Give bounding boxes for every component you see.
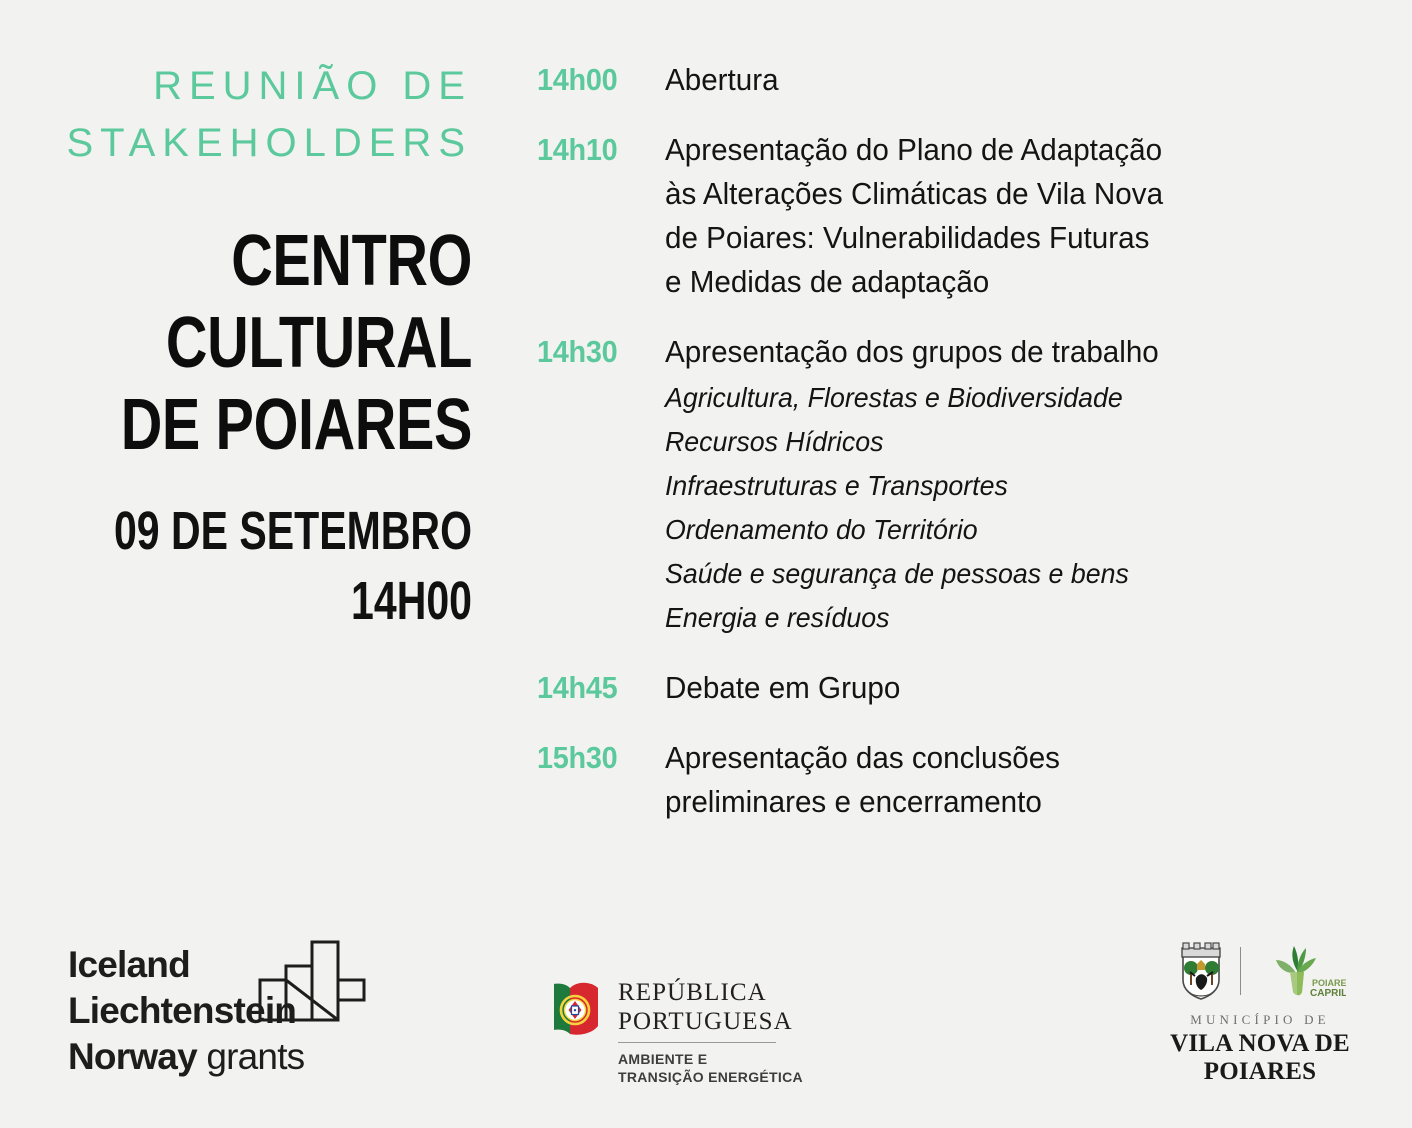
rp-subtitle-line-1: AMBIENTE E [618,1050,803,1068]
rp-line-republica: REPÚBLICA [618,978,803,1007]
agenda-item-title: Apresentação dos grupos de trabalho [665,330,1307,374]
rp-subtitle-line-2: TRANSIÇÃO ENERGÉTICA [618,1068,803,1086]
working-group-item: Infraestruturas e Transportes [665,464,1307,508]
working-group-item: Ordenamento do Território [665,508,1307,552]
working-group-item: Saúde e segurança de pessoas e bens [665,552,1307,596]
republica-portuguesa-logo: REPÚBLICA PORTUGUESA AMBIENTE E TRANSIÇÃ… [548,976,803,1086]
event-date: 09 DE SETEMBRO [113,496,472,566]
logo-divider [1240,947,1241,995]
municipio-marks-row: POIARES CAPRILAND [1155,938,1365,1004]
agenda-item-time: 14h10 [537,128,656,172]
agenda-item: 14h30 Apresentação dos grupos de trabalh… [537,330,1337,640]
agenda-title-line: de Poiares: Vulnerabilidades Futuras [665,216,1307,260]
working-group-item: Agricultura, Florestas e Biodiversidade [665,376,1307,420]
agenda-item-title: Apresentação das conclusões preliminares… [665,736,1307,824]
eea-grants-word: grants [206,1036,304,1077]
rp-line-portuguesa: PORTUGUESA [618,1007,803,1036]
agenda-item-time: 14h00 [537,58,656,102]
venue-line-3: DE POIARES [94,384,472,466]
svg-text:CAPRILAND: CAPRILAND [1310,988,1346,999]
municipio-vila-nova-de-poiares-logo: POIARES CAPRILAND MUNICÍPIO DE VILA NOVA… [1155,938,1365,1086]
agenda-item-title: Apresentação do Plano de Adaptação às Al… [665,128,1307,304]
venue-line-1: CENTRO [94,220,472,302]
agenda-item-time: 15h30 [537,736,656,780]
agenda-title-line: Apresentação do Plano de Adaptação [665,128,1307,172]
working-group-item: Recursos Hídricos [665,420,1307,464]
republica-portuguesa-wordmark: REPÚBLICA PORTUGUESA AMBIENTE E TRANSIÇÃ… [618,976,803,1086]
coat-of-arms-icon [1175,940,1227,1002]
working-group-item: Energia e resíduos [665,596,1307,640]
venue-title: CENTRO CULTURAL DE POIARES [94,220,472,466]
agenda-title-line: preliminares e encerramento [665,780,1307,824]
agenda-list: 14h00 Abertura 14h10 Apresentação do Pla… [537,58,1337,824]
event-time: 14H00 [113,566,472,636]
agenda-item-body: Apresentação dos grupos de trabalho Agri… [665,330,1307,640]
agenda-item-body: Abertura [665,58,1307,102]
kicker-line-1: REUNIÃO DE [0,58,472,115]
agenda-item: 14h10 Apresentação do Plano de Adaptação… [537,128,1337,304]
svg-text:POIARES: POIARES [1312,978,1346,988]
agenda-title-line: Debate em Grupo [665,666,1307,710]
working-groups-list: Agricultura, Florestas e Biodiversidade … [665,376,1307,640]
agenda-item-time: 14h45 [537,666,656,710]
agenda-item-body: Apresentação do Plano de Adaptação às Al… [665,128,1307,304]
venue-line-2: CULTURAL [94,302,472,384]
agenda-item: 14h00 Abertura [537,58,1337,102]
footer-logos: Iceland Liechtenstein Norway grants REPÚ… [0,888,1412,1128]
event-identity-column: REUNIÃO DE STAKEHOLDERS CENTRO CULTURAL … [0,0,472,636]
eea-grants-blocks-icon [258,940,368,1022]
event-datetime: 09 DE SETEMBRO 14H00 [113,496,472,636]
agenda-item: 15h30 Apresentação das conclusões prelim… [537,736,1337,824]
agenda-item: 14h45 Debate em Grupo [537,666,1337,710]
portugal-shield-icon [548,980,604,1042]
rp-divider [618,1042,776,1043]
event-kicker: REUNIÃO DE STAKEHOLDERS [0,58,472,172]
municipio-kicker: MUNICÍPIO DE [1155,1012,1365,1028]
agenda-item-body: Apresentação das conclusões preliminares… [665,736,1307,824]
agenda-title-line: Apresentação das conclusões [665,736,1307,780]
agenda-title-line: às Alterações Climáticas de Vila Nova [665,172,1307,216]
eea-line-norway-grants: Norway grants [68,1034,368,1080]
agenda-item-title: Debate em Grupo [665,666,1307,710]
agenda-title-line: e Medidas de adaptação [665,260,1307,304]
agenda-item-time: 14h30 [537,330,656,374]
kicker-line-2: STAKEHOLDERS [0,115,472,172]
agenda-item-title: Abertura [665,58,1307,102]
agenda-title-line: Apresentação dos grupos de trabalho [665,330,1307,374]
poiares-capriland-leaf-icon: POIARES CAPRILAND [1254,940,1346,1002]
eea-norway-grants-logo: Iceland Liechtenstein Norway grants [68,942,368,1080]
municipio-name: VILA NOVA DE POIARES [1155,1030,1365,1086]
eea-norway-word: Norway [68,1036,197,1077]
agenda-title-line: Abertura [665,58,1307,102]
agenda-item-body: Debate em Grupo [665,666,1307,710]
